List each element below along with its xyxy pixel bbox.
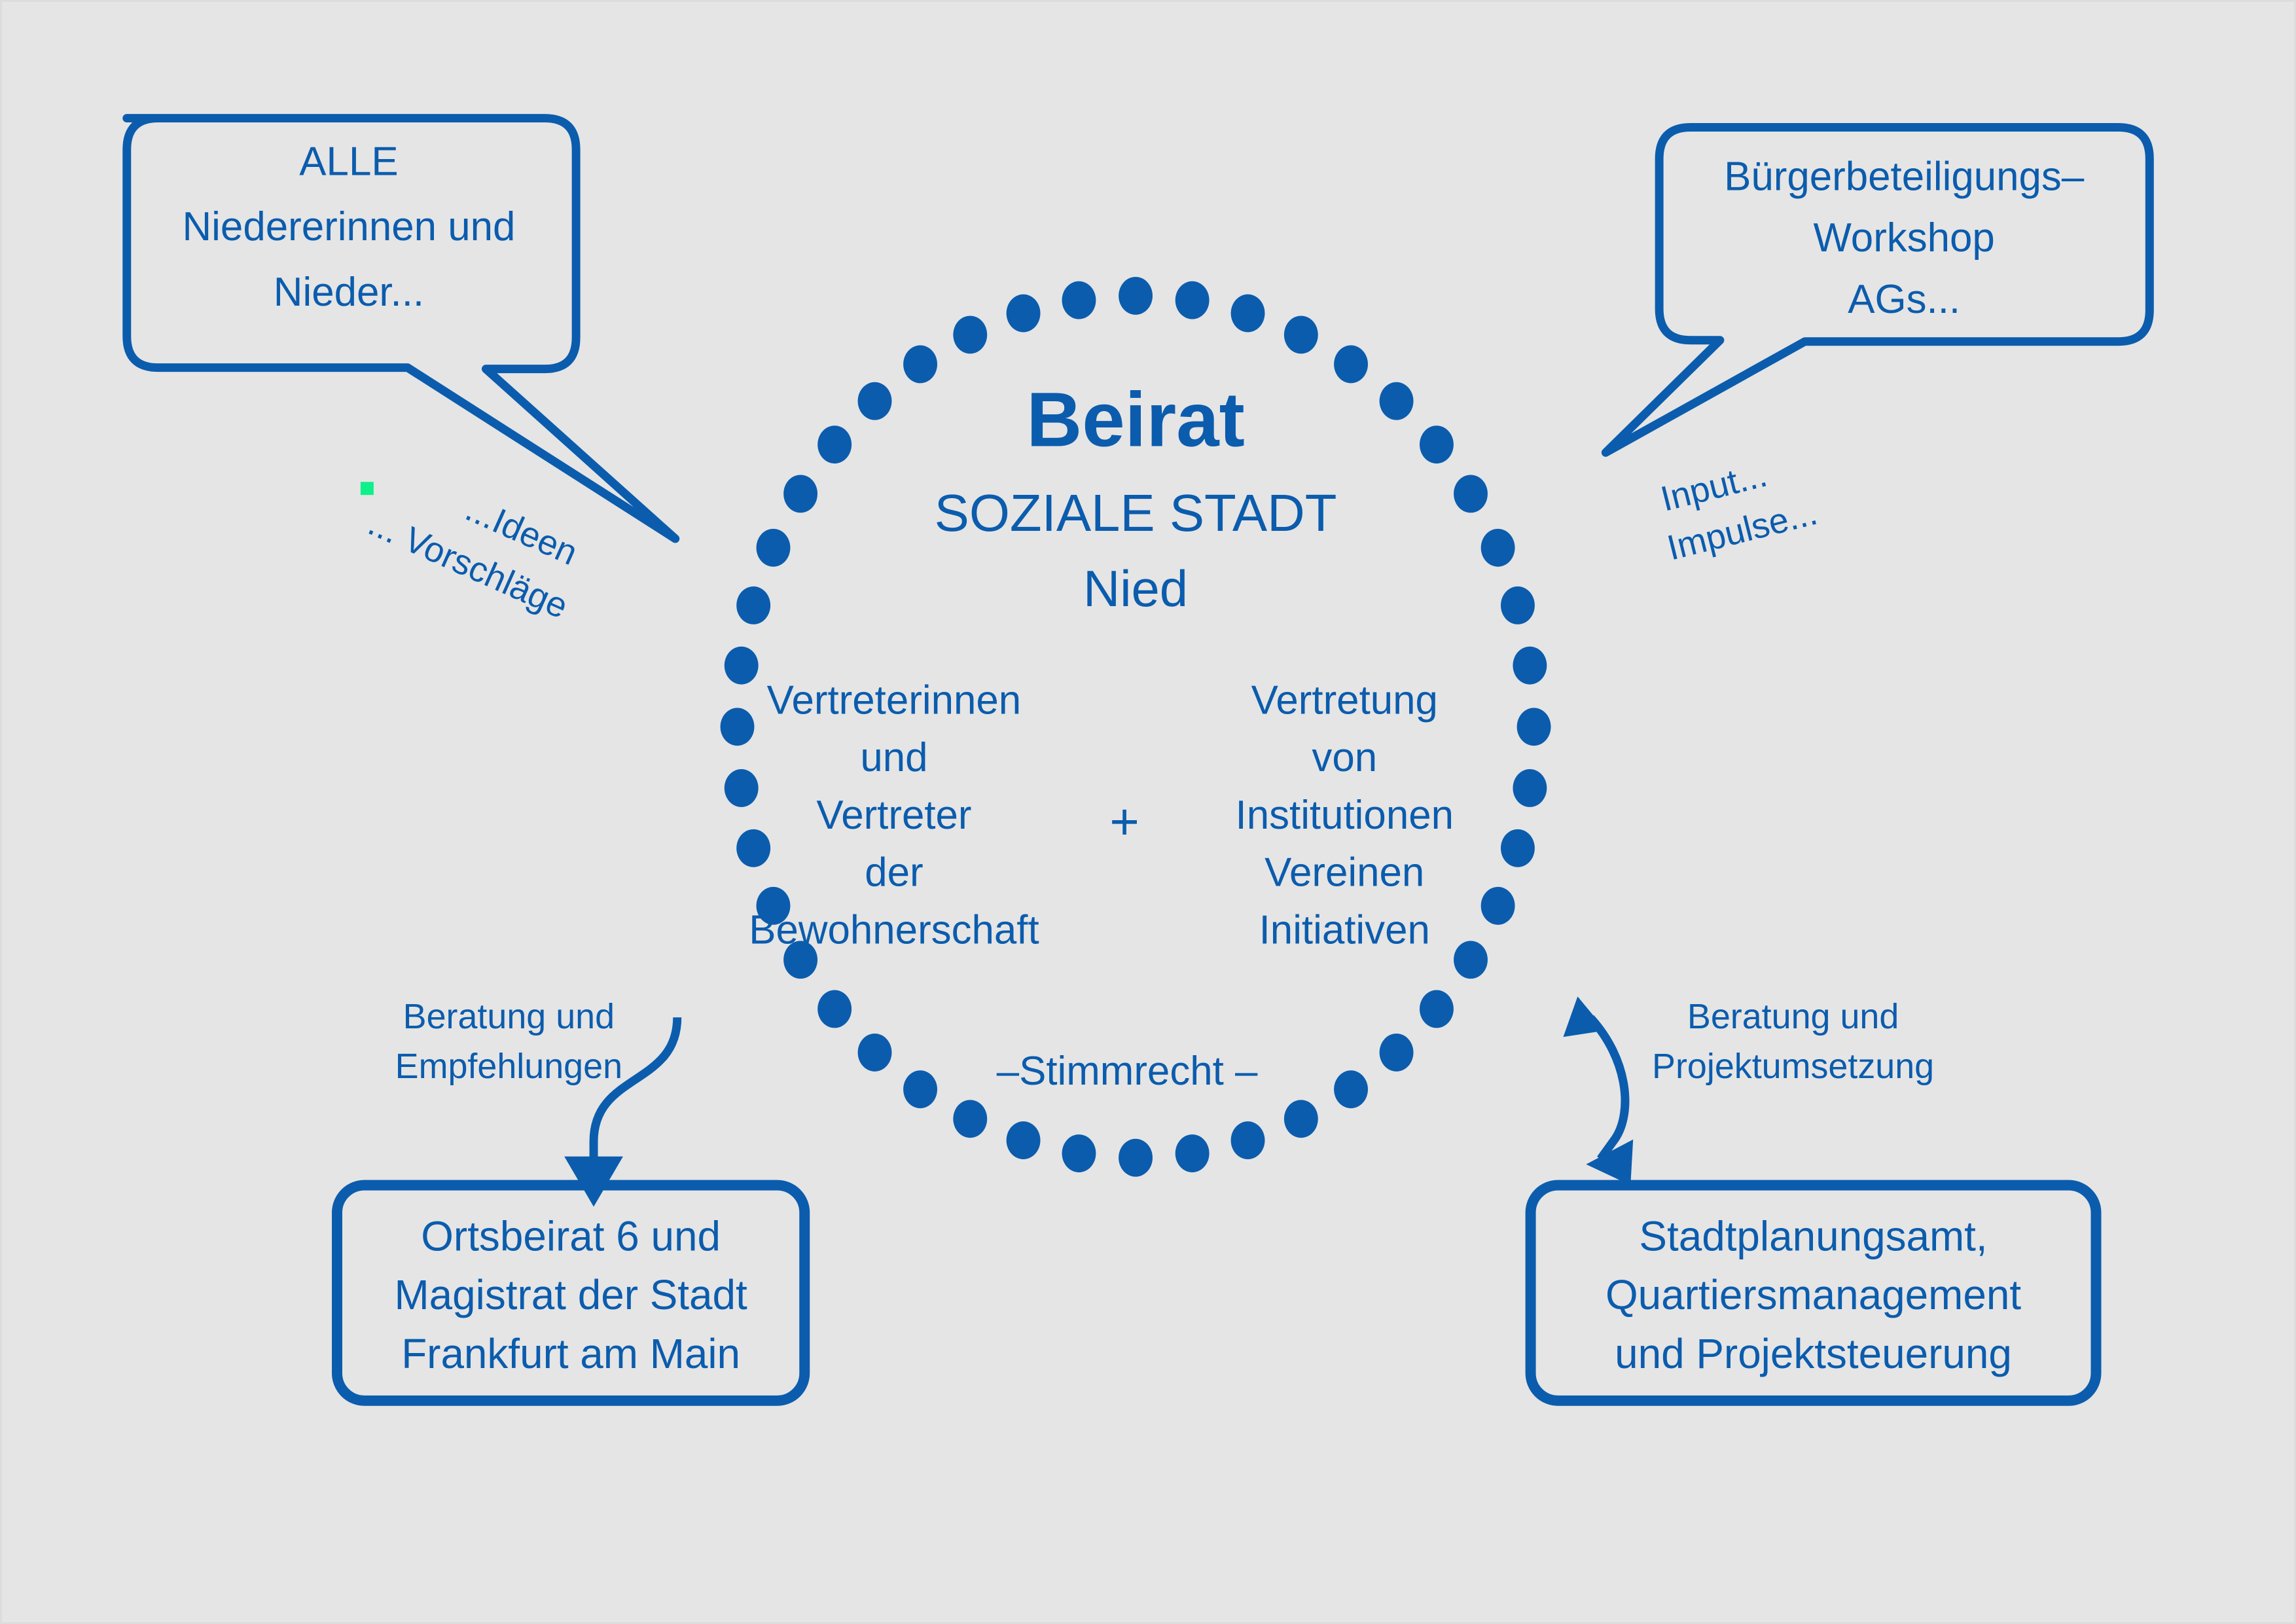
- ring-dot: [1119, 1139, 1153, 1177]
- annotation-input-impulse: Input... Impulse...: [1657, 455, 1821, 568]
- ring-dot: [1513, 647, 1547, 685]
- arrow-bottom-left-curve: [594, 1017, 677, 1170]
- ring-dot: [1501, 586, 1535, 624]
- ring-dot: [1380, 382, 1414, 420]
- ring-dot: [817, 990, 852, 1028]
- box-stadtplanungsamt-line-3: und Projektsteuerung: [1615, 1330, 2012, 1377]
- center-subtitle-line1: SOZIALE STADT: [935, 484, 1337, 542]
- right-column-line-2: von: [1312, 735, 1377, 780]
- label-beratung-projektumsetzung-line1: Beratung und: [1687, 997, 1899, 1036]
- ring-dot: [903, 346, 937, 384]
- ring-dot: [1454, 941, 1488, 979]
- left-column-line-1: Vertreterinnen: [767, 677, 1022, 723]
- ring-dot: [1007, 1121, 1041, 1159]
- plus-sign: +: [1109, 794, 1139, 850]
- ring-dot: [1517, 708, 1551, 746]
- box-stadtplanungsamt-line-2: Quartiersmanagement: [1605, 1271, 2021, 1318]
- ring-dot: [1284, 316, 1318, 353]
- bubble-top-right[interactable]: Bürgerbeteiligungs– Workshop AGs...: [1605, 128, 2149, 453]
- ring-dot: [1501, 829, 1535, 867]
- label-beratung-empfehlungen-line2: Empfehlungen: [395, 1047, 622, 1086]
- bubble-top-left-line-1: ALLE: [299, 139, 398, 184]
- right-column-line-1: Vertretung: [1251, 677, 1438, 723]
- ring-dot: [1420, 425, 1454, 463]
- ring-dot: [1175, 1134, 1210, 1172]
- label-beratung-projektumsetzung-line2: Projektumsetzung: [1652, 1047, 1934, 1086]
- ring-dot: [783, 475, 817, 513]
- diagram-canvas: Beirat SOZIALE STADT Nied Vertreterinnen…: [0, 0, 2296, 1624]
- left-column-line-5: Bewohnerschaft: [749, 908, 1039, 953]
- ring-dot: [1513, 769, 1547, 807]
- ring-dot: [858, 382, 892, 420]
- ring-dot: [1454, 475, 1488, 513]
- ring-dot: [953, 1100, 987, 1138]
- box-ortsbeirat-line-3: Frankfurt am Main: [401, 1330, 740, 1377]
- arrow-bottom-right: Beratung und Projektumsetzung: [1563, 996, 1934, 1185]
- stimmrecht-label: –Stimmrecht –: [997, 1049, 1258, 1094]
- ring-dot: [1231, 295, 1265, 333]
- ring-dot: [817, 425, 852, 463]
- ring-dot: [1119, 277, 1153, 315]
- ring-dot: [903, 1070, 937, 1108]
- right-column-line-4: Vereinen: [1265, 850, 1424, 895]
- bubble-top-right-line-1: Bürgerbeteiligungs–: [1724, 154, 2085, 199]
- ring-dot: [1481, 529, 1515, 567]
- ring-dot: [858, 1034, 892, 1072]
- box-ortsbeirat-line-1: Ortsbeirat 6 und: [421, 1212, 721, 1259]
- ring-dot: [1062, 1134, 1096, 1172]
- bubble-top-left-outline: [127, 118, 675, 539]
- right-column-line-5: Initiativen: [1259, 908, 1430, 953]
- arrow-bottom-right-curve: [1590, 1018, 1625, 1159]
- ring-dot: [1380, 1034, 1414, 1072]
- ring-dot: [1334, 1070, 1368, 1108]
- center-subtitle-line2: Nied: [1083, 561, 1188, 617]
- ring-dot: [725, 647, 759, 685]
- bubble-top-right-line-3: AGs...: [1848, 277, 1960, 322]
- ring-dot: [1007, 295, 1041, 333]
- box-stadtplanungsamt-line-1: Stadtplanungsamt,: [1639, 1212, 1987, 1259]
- annotation-ideen-vorschlaege: ...Ideen ... Vorschläge: [361, 482, 583, 626]
- bubble-top-left-line-2: Niedererinnen und: [183, 204, 516, 249]
- ring-dot: [736, 586, 770, 624]
- box-ortsbeirat[interactable]: Ortsbeirat 6 und Magistrat der Stadt Fra…: [337, 1185, 804, 1401]
- ring-dot: [1420, 990, 1454, 1028]
- beirat-soziale-stadt-diagram: Beirat SOZIALE STADT Nied Vertreterinnen…: [2, 2, 2294, 1622]
- ring-dot: [1175, 281, 1210, 319]
- ring-dot: [1481, 887, 1515, 925]
- arrow-bottom-right-head-up: [1563, 996, 1605, 1037]
- ring-dot: [953, 316, 987, 353]
- bubble-top-right-line-2: Workshop: [1814, 215, 1995, 261]
- bubble-top-left[interactable]: ALLE Niedererinnen und Nieder...: [127, 118, 675, 539]
- left-column-line-4: der: [865, 850, 923, 895]
- right-column-line-3: Institutionen: [1236, 793, 1454, 838]
- left-column-line-2: und: [860, 735, 927, 780]
- box-ortsbeirat-line-2: Magistrat der Stadt: [395, 1271, 748, 1318]
- ring-dot: [1334, 346, 1368, 384]
- arrow-bottom-left: Beratung und Empfehlungen: [395, 997, 677, 1206]
- box-stadtplanungsamt[interactable]: Stadtplanungsamt, Quartiersmanagement un…: [1531, 1185, 2096, 1401]
- ring-dot: [1231, 1121, 1265, 1159]
- ring-dot: [1284, 1100, 1318, 1138]
- left-column-line-3: Vertreter: [816, 793, 971, 838]
- bubble-top-left-line-3: Nieder...: [274, 270, 424, 315]
- ring-dot: [721, 708, 755, 746]
- ring-dot: [725, 769, 759, 807]
- center-title: Beirat: [1026, 376, 1245, 462]
- ring-dot: [736, 829, 770, 867]
- ring-dot: [757, 529, 791, 567]
- ring-dot: [1062, 281, 1096, 319]
- label-beratung-empfehlungen-line1: Beratung und: [403, 997, 615, 1036]
- green-marker-dot: [361, 482, 374, 495]
